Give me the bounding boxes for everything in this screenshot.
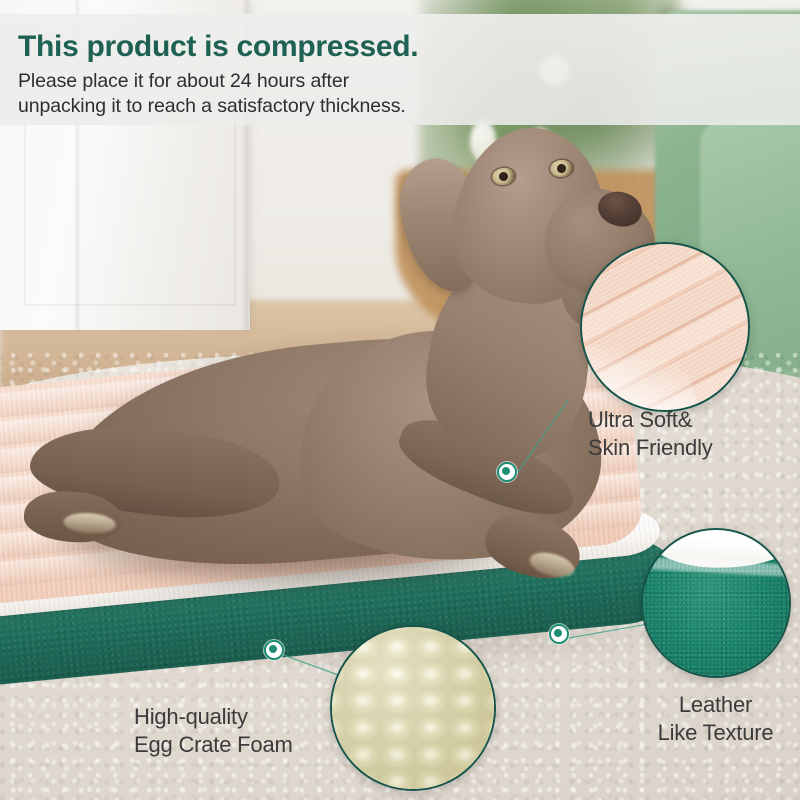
callout-circle-egg-foam <box>330 625 496 791</box>
tree-ornament <box>470 120 496 162</box>
callout-circle-leather <box>641 528 791 678</box>
callout-circle-ultra-soft <box>580 242 750 412</box>
callout-label-leather: Leather Like Texture <box>643 691 788 747</box>
fur-trim-detail <box>641 528 791 573</box>
connector-dot-ultra-soft <box>497 462 517 482</box>
connector-dot-leather <box>549 624 569 644</box>
banner-subtitle: Please place it for about 24 hours after… <box>18 69 406 119</box>
callout-label-egg-foam: High-quality Egg Crate Foam <box>134 703 293 759</box>
banner-title: This product is compressed. <box>18 30 418 64</box>
notice-banner: This product is compressed. Please place… <box>0 14 800 125</box>
tree-ornament <box>530 128 550 148</box>
connector-dot-egg-foam <box>264 640 284 660</box>
callout-label-ultra-soft: Ultra Soft& Skin Friendly <box>588 406 713 462</box>
product-feature-image: Ultra Soft& Skin Friendly High-quality E… <box>0 0 800 800</box>
egg-crate-foam-swatch <box>332 627 494 789</box>
